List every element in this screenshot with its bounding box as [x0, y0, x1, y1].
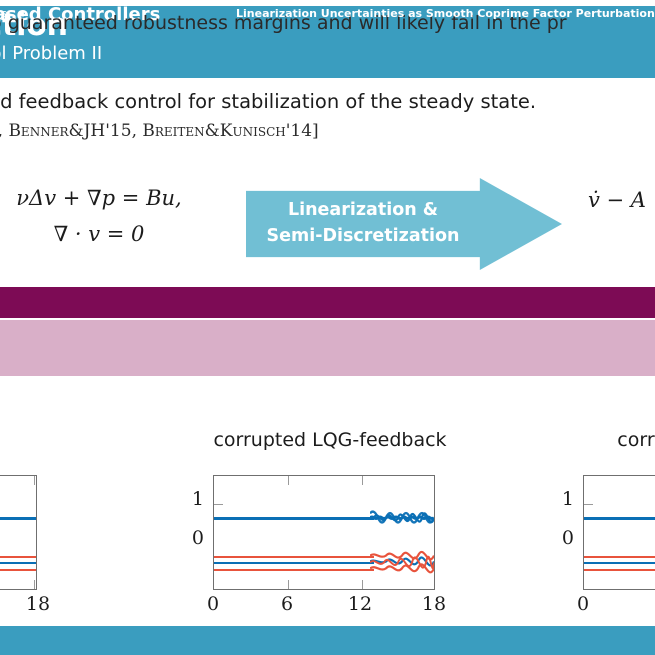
plot-right-xtick-label-0: 0 — [568, 593, 598, 615]
plot-right-trace-blue-1 — [584, 517, 655, 520]
alert-block-header — [0, 287, 655, 318]
plot-left-trace-red-2 — [0, 569, 36, 571]
slide-canvas: duction ontrol Problem II ased feedback … — [0, 0, 655, 655]
plot-left-xtick-bot — [34, 580, 35, 589]
plot-center-xtick-label-18: 18 — [418, 593, 450, 615]
arrow-label: Linearization & Semi-Discretization — [252, 197, 474, 249]
plot-center-title: corrupted LQG-feedback — [150, 429, 510, 451]
plot-left: ck 18 — [0, 415, 160, 610]
alert-block-body — [0, 320, 655, 376]
plot-center-trace-red-1 — [214, 556, 374, 558]
plot-center-xtick-label-6: 6 — [272, 593, 302, 615]
plot-left-xtick-top — [34, 476, 35, 485]
equation-right: v̇ − A — [588, 188, 646, 212]
plot-center: corrupted LQG-feedback 1 0 0 6 — [150, 415, 510, 610]
plot-center-trace-blue-2 — [214, 562, 374, 564]
plot-center-ytick-label-1: 1 — [178, 488, 204, 510]
plot-right-title: corrup — [538, 429, 655, 451]
plot-left-trace-blue-1 — [0, 517, 36, 520]
plot-right-ytick-label-1: 1 — [548, 488, 574, 510]
plot-left-axes — [0, 475, 37, 590]
plot-right-trace-red-1 — [584, 556, 655, 558]
plot-center-xtick-label-0: 0 — [198, 593, 228, 615]
footer-title-label: Linearization Uncertainties as Smooth Co… — [236, 7, 655, 20]
plot-center-oscillation-overlay — [370, 476, 434, 589]
plot-center-trace-blue-1 — [214, 517, 374, 520]
equation-left-line1: νΔv + ∇p = Bu, — [16, 186, 181, 210]
page-subtitle: ontrol Problem II — [0, 43, 102, 64]
footer-left-label: de — [0, 7, 8, 20]
arrow-label-line2: Semi-Discretization — [252, 223, 474, 249]
plot-center-xtick-bot-12 — [362, 580, 363, 589]
arrow-label-line1: Linearization & — [252, 197, 474, 223]
plot-left-title: ck — [0, 429, 118, 451]
plot-center-ytick-1 — [214, 504, 223, 505]
plot-center-xtick-top-12 — [362, 476, 363, 485]
plot-center-xtick-label-12: 12 — [344, 593, 376, 615]
plot-right-ytick-1 — [584, 504, 593, 505]
plot-right: corrup 1 0 0 — [520, 415, 655, 610]
plot-right-ytick-label-0: 0 — [548, 527, 574, 549]
plot-center-axes — [213, 475, 435, 590]
plot-right-trace-blue-2 — [584, 562, 655, 564]
plot-center-xtick-bot-6 — [288, 580, 289, 589]
plot-center-ytick-label-0: 0 — [178, 527, 204, 549]
plot-left-xtick-label-18: 18 — [18, 593, 58, 615]
plot-left-trace-red-1 — [0, 556, 36, 558]
plot-right-trace-red-2 — [584, 569, 655, 571]
transition-arrow: Linearization & Semi-Discretization — [246, 178, 562, 270]
equation-left: νΔv + ∇p = Bu, ∇ · v = 0 — [0, 186, 214, 246]
plot-center-xtick-top-6 — [288, 476, 289, 485]
plot-left-trace-blue-2 — [0, 562, 36, 564]
equation-left-line2: ∇ · v = 0 — [0, 222, 214, 246]
plot-center-trace-red-2 — [214, 569, 374, 571]
body-text-line-1: ased feedback control for stabilization … — [0, 90, 536, 113]
footer-bar — [0, 626, 655, 655]
plot-right-axes — [583, 475, 655, 590]
citation-line: 06, Benner&JH'15, Breiten&Kunisch'14] — [0, 121, 319, 141]
